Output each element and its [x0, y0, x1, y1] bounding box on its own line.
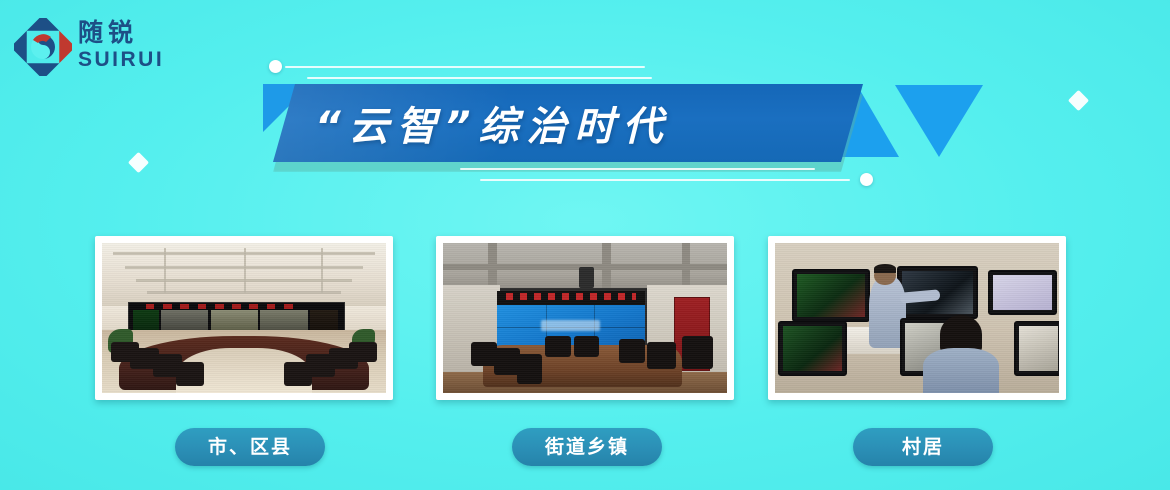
decorative-line: [307, 77, 652, 79]
card-item[interactable]: 村居: [768, 236, 1066, 400]
decorative-diamond-icon: [1068, 90, 1089, 111]
title-banner-group: “云智”综治时代: [255, 55, 945, 195]
decorative-line: [285, 66, 645, 68]
brand-name-cn: 随锐: [78, 18, 188, 48]
card-label-text: 街道乡镇: [545, 436, 629, 458]
suirui-pinwheel-logo-icon: [14, 18, 72, 76]
photo-frame: [768, 236, 1066, 400]
blue-triangle-down-icon: [895, 85, 983, 157]
card-label-pill[interactable]: 村居: [853, 428, 993, 466]
card-item[interactable]: 街道乡镇: [436, 236, 734, 400]
conference-room-video-wall-photo: [102, 243, 386, 393]
officer-monitoring-station-photo: [775, 243, 1059, 393]
slide-canvas: 随锐 SUIRUI “云智”综治时代: [0, 0, 1170, 490]
card-label-pill[interactable]: 市、区县: [175, 428, 325, 466]
card-label-pill[interactable]: 街道乡镇: [512, 428, 662, 466]
page-title: “云智”综治时代: [315, 105, 845, 149]
brand-logo-text: 随锐 SUIRUI: [78, 18, 188, 76]
decorative-line: [480, 179, 850, 181]
decorative-line: [460, 168, 815, 170]
card-item[interactable]: 市、区县: [95, 236, 393, 400]
card-label-text: 村居: [902, 436, 944, 458]
decorative-dot-icon: [860, 173, 873, 186]
photo-frame: [436, 236, 734, 400]
decorative-diamond-icon: [128, 152, 149, 173]
brand-name-en: SUIRUI: [78, 48, 188, 72]
decorative-dot-icon: [269, 60, 282, 73]
brand-logo: 随锐 SUIRUI: [14, 16, 194, 78]
photo-frame: [95, 236, 393, 400]
card-row: 市、区县: [0, 236, 1170, 481]
meeting-room-led-wall-photo: [443, 243, 727, 393]
card-label-text: 市、区县: [208, 436, 292, 458]
